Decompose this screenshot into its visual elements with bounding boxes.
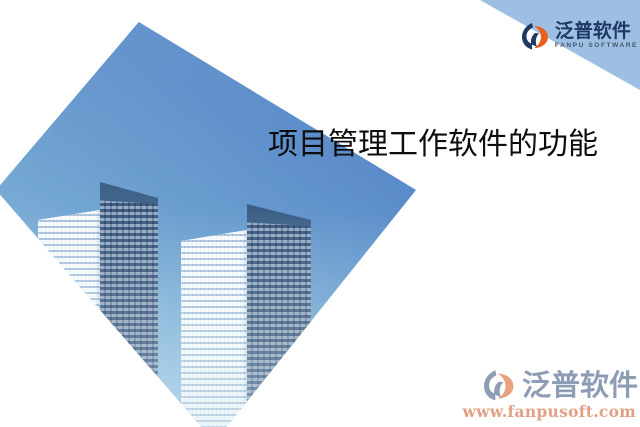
watermark: 泛普软件 www.fanpusoft.com [462, 369, 638, 421]
watermark-url: www.fanpusoft.com [462, 402, 636, 421]
diamond-artwork [0, 22, 416, 427]
brand-logo: 泛普软件 FANPU SOFTWARE [522, 22, 638, 50]
fanpu-logo-icon [522, 22, 552, 50]
watermark-name-cn: 泛普软件 [522, 371, 638, 400]
presentation-slide: 项目管理工作软件的功能 泛普软件 FANPU SOFTWARE 泛普软件 www… [0, 0, 640, 427]
watermark-logo-row: 泛普软件 [462, 369, 638, 401]
brand-text: 泛普软件 FANPU SOFTWARE [555, 22, 638, 50]
brand-name-en: FANPU SOFTWARE [555, 43, 638, 50]
slide-title: 项目管理工作软件的功能 [268, 128, 598, 163]
diamond-bottom-haze [0, 22, 416, 427]
brand-name-cn: 泛普软件 [555, 22, 638, 41]
fanpu-watermark-icon [484, 369, 518, 401]
